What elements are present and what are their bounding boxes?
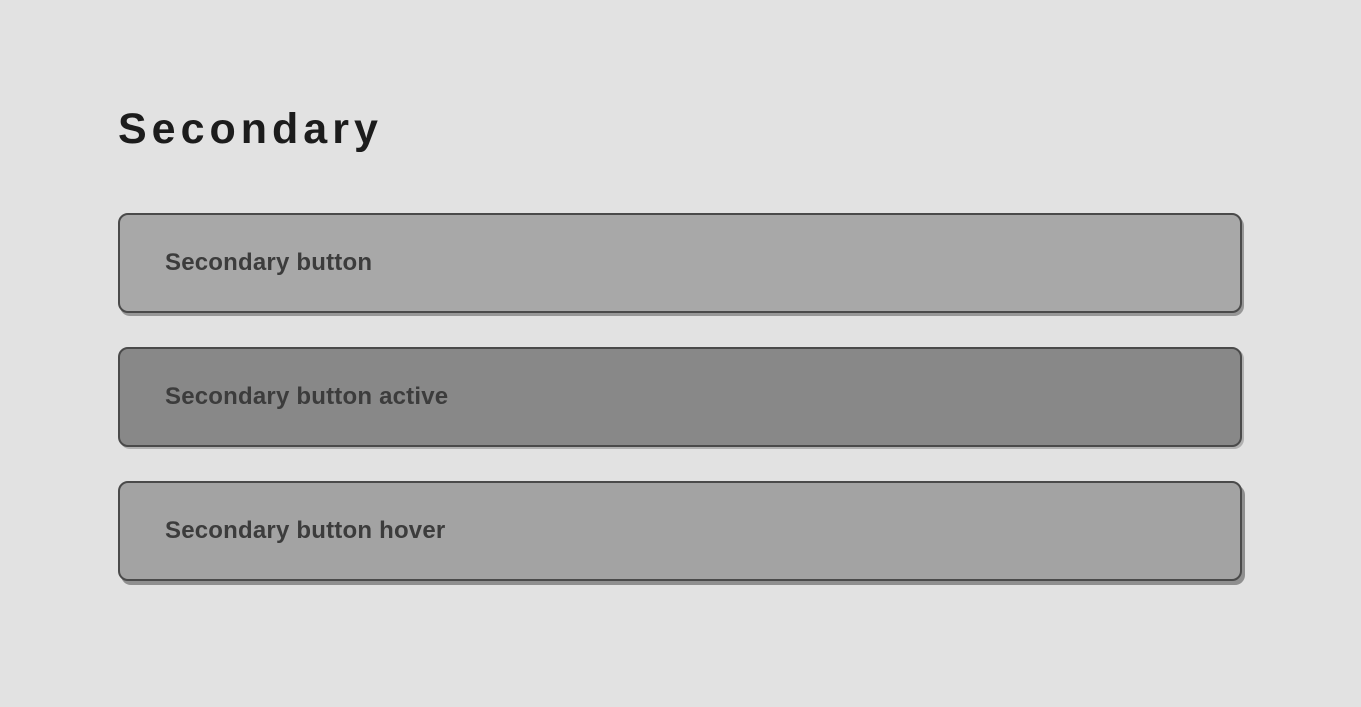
button-stack: Secondary button Secondary button active… — [118, 213, 1242, 581]
page-title: Secondary — [118, 106, 383, 153]
secondary-buttons-showcase: Secondary Secondary button Secondary but… — [0, 0, 1361, 707]
secondary-button-hover-label: Secondary button hover — [165, 517, 445, 545]
secondary-button-default-label: Secondary button — [165, 249, 372, 277]
secondary-button-active-label: Secondary button active — [165, 383, 448, 411]
secondary-button-default[interactable]: Secondary button — [118, 213, 1242, 313]
secondary-button-active[interactable]: Secondary button active — [118, 347, 1242, 447]
secondary-button-hover[interactable]: Secondary button hover — [118, 481, 1242, 581]
